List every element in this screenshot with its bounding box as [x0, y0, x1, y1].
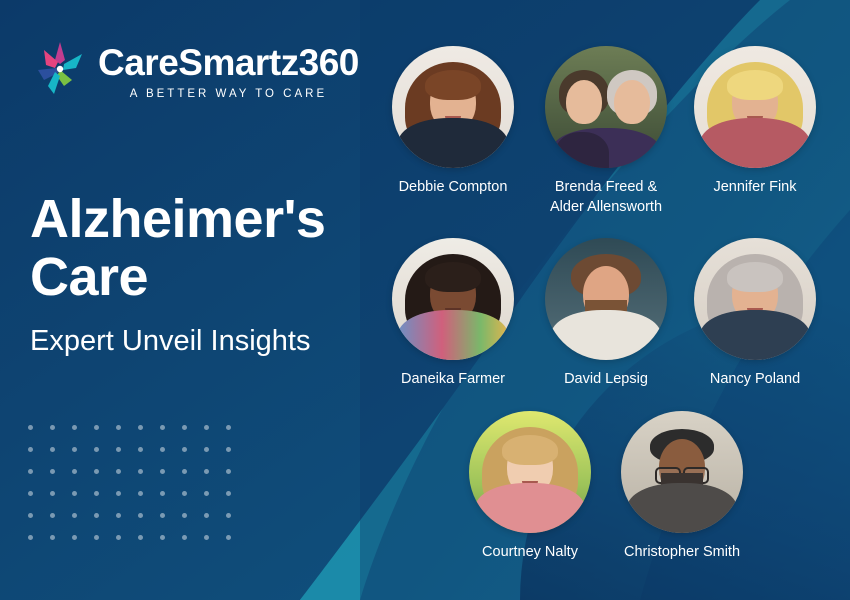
headline-line-1: Alzheimer's: [30, 189, 325, 249]
speaker-name: Nancy Poland: [680, 370, 830, 390]
speaker-card-david-lepsig: David Lepsig: [531, 238, 681, 390]
speaker-name: Brenda Freed &Alder Allensworth: [531, 178, 681, 217]
speaker-name: David Lepsig: [531, 370, 681, 390]
promo-banner: CareSmartz360 A BETTER WAY TO CARE Alzhe…: [0, 0, 850, 600]
speaker-card-brenda-alder: Brenda Freed &Alder Allensworth: [531, 46, 681, 217]
dot-grid-decoration: [28, 425, 238, 555]
brand-name-suffix: 360: [299, 42, 359, 83]
speaker-grid: Debbie Compton Brenda Freed &Alder Allen…: [370, 28, 840, 588]
caresmartz-burst-icon: [30, 38, 92, 100]
portrait-david-lepsig: [545, 238, 667, 360]
portrait-brenda-freed-alder-allensworth: [545, 46, 667, 168]
speaker-name: Jennifer Fink: [680, 178, 830, 198]
headline-subtitle: Expert Unveil Insights: [30, 325, 360, 358]
speaker-card-courtney-nalty: Courtney Nalty: [455, 411, 605, 563]
speaker-card-debbie-compton: Debbie Compton: [378, 46, 528, 198]
portrait-jennifer-fink: [694, 46, 816, 168]
brand-logo-text: CareSmartz360 A BETTER WAY TO CARE: [98, 44, 359, 100]
brand-name: CareSmartz360: [98, 44, 359, 81]
speaker-name-line-1: Brenda Freed &: [555, 179, 657, 195]
speaker-card-jennifer-fink: Jennifer Fink: [680, 46, 830, 198]
brand-name-main: CareSmartz: [98, 42, 299, 83]
speaker-name: Courtney Nalty: [455, 543, 605, 563]
headline-block: Alzheimer'sCare Expert Unveil Insights: [30, 190, 360, 358]
portrait-christopher-smith: [621, 411, 743, 533]
speaker-name-line-2: Alder Allensworth: [550, 199, 662, 215]
speaker-card-christopher-smith: Christopher Smith: [607, 411, 757, 563]
portrait-nancy-poland: [694, 238, 816, 360]
speaker-card-daneika-farmer: Daneika Farmer: [378, 238, 528, 390]
portrait-courtney-nalty: [469, 411, 591, 533]
headline-line-2: Care: [30, 247, 148, 307]
speaker-name: Daneika Farmer: [378, 370, 528, 390]
brand-logo: CareSmartz360 A BETTER WAY TO CARE: [30, 38, 359, 100]
speaker-name: Christopher Smith: [607, 543, 757, 563]
speaker-card-nancy-poland: Nancy Poland: [680, 238, 830, 390]
headline-title: Alzheimer'sCare: [30, 190, 360, 307]
brand-tagline: A BETTER WAY TO CARE: [98, 88, 359, 100]
portrait-debbie-compton: [392, 46, 514, 168]
speaker-name: Debbie Compton: [378, 178, 528, 198]
portrait-daneika-farmer: [392, 238, 514, 360]
